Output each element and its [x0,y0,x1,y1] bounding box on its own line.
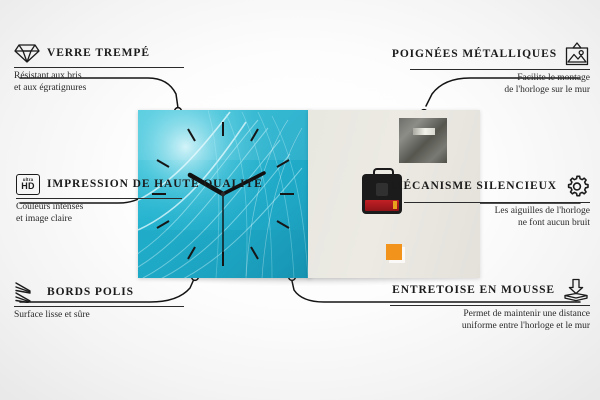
hanger-slot [413,128,435,135]
feature-impression-haute-qualite: ultra HD IMPRESSION DE HAUTE QUALITÉ Cou… [16,174,182,225]
title-rule [14,67,184,68]
battery [365,200,399,211]
feature-subtitle: Résistant aux bris et aux égratignures [14,71,184,94]
title-rule [390,305,590,306]
foam-spacer-arrow-icon [562,278,590,302]
feature-mecanisme-silencieux: MÉCANISME SILENCIEUX Les aiguilles de l'… [404,174,590,229]
infographic-canvas: VERRE TREMPÉ Résistant aux bris et aux é… [0,0,600,400]
feature-title: MÉCANISME SILENCIEUX [392,180,557,193]
feature-title: ENTRETOISE EN MOUSSE [392,284,555,297]
movement-hook [373,168,394,178]
metal-hanger-plate [399,118,447,163]
feature-verre-trempe: VERRE TREMPÉ Résistant aux bris et aux é… [14,42,184,94]
feature-subtitle: Facilite le montage de l'horloge sur le … [410,73,590,96]
feature-entretoise-en-mousse: ENTRETOISE EN MOUSSE Permet de maintenir… [390,278,590,332]
feature-subtitle: Permet de maintenir une distance uniform… [390,309,590,332]
foam-spacer [386,244,402,260]
polished-edge-lines-icon [14,281,40,303]
gear-icon [564,174,590,199]
feature-subtitle: Les aiguilles de l'horloge ne font aucun… [404,206,590,229]
feature-subtitle: Surface lisse et sûre [14,310,184,322]
feature-poignees-metalliques: POIGNÉES MÉTALLIQUES Facilite le montage… [410,42,590,96]
feature-subtitle: Couleurs intenses et image claire [16,202,182,225]
battery-terminal [393,201,397,209]
title-rule [14,306,184,307]
ultra-hd-icon: ultra HD [16,174,40,195]
ultra-hd-large-label: HD [21,182,34,191]
title-rule [410,69,590,70]
feature-title: BORDS POLIS [47,286,134,299]
feature-bords-polis: BORDS POLIS Surface lisse et sûre [14,281,184,322]
hanging-picture-frame-icon [564,42,590,66]
title-rule [16,198,182,199]
clock-center-cap [221,192,225,196]
feature-title: VERRE TREMPÉ [47,47,150,60]
movement-dial-window [376,183,388,196]
feature-title: IMPRESSION DE HAUTE QUALITÉ [47,178,263,191]
title-rule [404,202,590,203]
feature-title: POIGNÉES MÉTALLIQUES [392,48,557,61]
diamond-icon [14,42,40,64]
